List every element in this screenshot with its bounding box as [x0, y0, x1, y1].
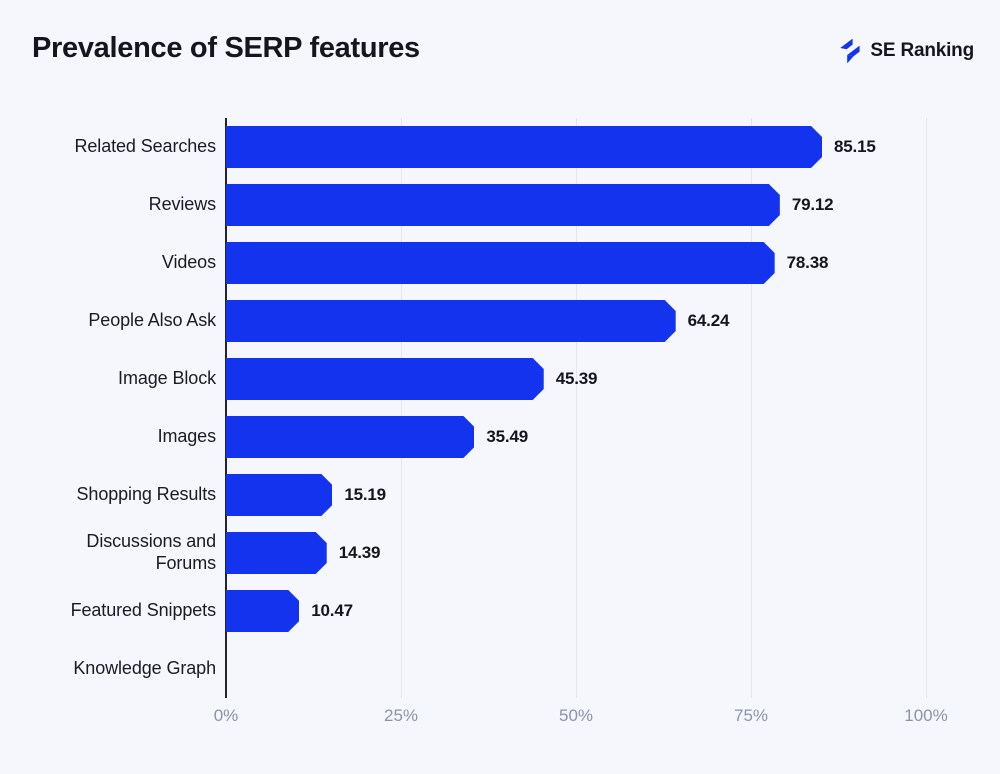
bar[interactable]: [226, 416, 474, 458]
x-tick-label: 100%: [904, 706, 947, 726]
bar-row: Shopping Results15.19: [0, 466, 1000, 524]
bar-row: Discussions and Forums14.39: [0, 524, 1000, 582]
x-tick-label: 75%: [734, 706, 768, 726]
bar-value-label: 64.24: [688, 311, 730, 331]
bar-row: Images35.49: [0, 408, 1000, 466]
category-label: People Also Ask: [0, 292, 216, 350]
x-tick-label: 0%: [214, 706, 239, 726]
bar[interactable]: [226, 474, 332, 516]
bar-value-label: 10.47: [311, 601, 353, 621]
bar-container: 79.12: [226, 184, 833, 226]
bar-row: Reviews79.12: [0, 176, 1000, 234]
x-axis-ticks: 0%25%50%75%100%: [0, 706, 1000, 746]
category-label: Reviews: [0, 176, 216, 234]
category-label: Knowledge Graph: [0, 640, 216, 698]
bar-container: 14.39: [226, 532, 380, 574]
category-label: Image Block: [0, 350, 216, 408]
category-label: Featured Snippets: [0, 582, 216, 640]
bar-value-label: 14.39: [339, 543, 381, 563]
chart-page: Prevalence of SERP features SE Ranking R…: [0, 0, 1000, 774]
bar-container: 85.15: [226, 126, 876, 168]
bar[interactable]: [226, 532, 327, 574]
bar[interactable]: [226, 300, 676, 342]
bar-value-label: 35.49: [486, 427, 528, 447]
bar[interactable]: [226, 358, 544, 400]
bar[interactable]: [226, 242, 775, 284]
bar-container: 64.24: [226, 300, 729, 342]
bar-row: Videos78.38: [0, 234, 1000, 292]
bar-row: Featured Snippets10.47: [0, 582, 1000, 640]
bar-container: 45.39: [226, 358, 597, 400]
x-tick-label: 50%: [559, 706, 593, 726]
plot-area: Related Searches85.15Reviews79.12Videos7…: [0, 0, 1000, 774]
bar-row: People Also Ask64.24: [0, 292, 1000, 350]
category-label: Videos: [0, 234, 216, 292]
category-label: Shopping Results: [0, 466, 216, 524]
bar-row: Related Searches85.15: [0, 118, 1000, 176]
bar-container: 35.49: [226, 416, 528, 458]
bar-container: 15.19: [226, 474, 386, 516]
bar-container: 10.47: [226, 590, 353, 632]
bar[interactable]: [226, 126, 822, 168]
bar-value-label: 85.15: [834, 137, 876, 157]
bar-value-label: 45.39: [556, 369, 598, 389]
bar-row: Knowledge Graph: [0, 640, 1000, 698]
category-label: Discussions and Forums: [0, 524, 216, 582]
bar-container: 78.38: [226, 242, 828, 284]
bar-row: Image Block45.39: [0, 350, 1000, 408]
bar[interactable]: [226, 590, 299, 632]
bar[interactable]: [226, 184, 780, 226]
category-label: Images: [0, 408, 216, 466]
bar-rows: Related Searches85.15Reviews79.12Videos7…: [0, 118, 1000, 698]
x-tick-label: 25%: [384, 706, 418, 726]
category-label: Related Searches: [0, 118, 216, 176]
bar-value-label: 15.19: [344, 485, 386, 505]
bar-value-label: 78.38: [787, 253, 829, 273]
bar-value-label: 79.12: [792, 195, 834, 215]
